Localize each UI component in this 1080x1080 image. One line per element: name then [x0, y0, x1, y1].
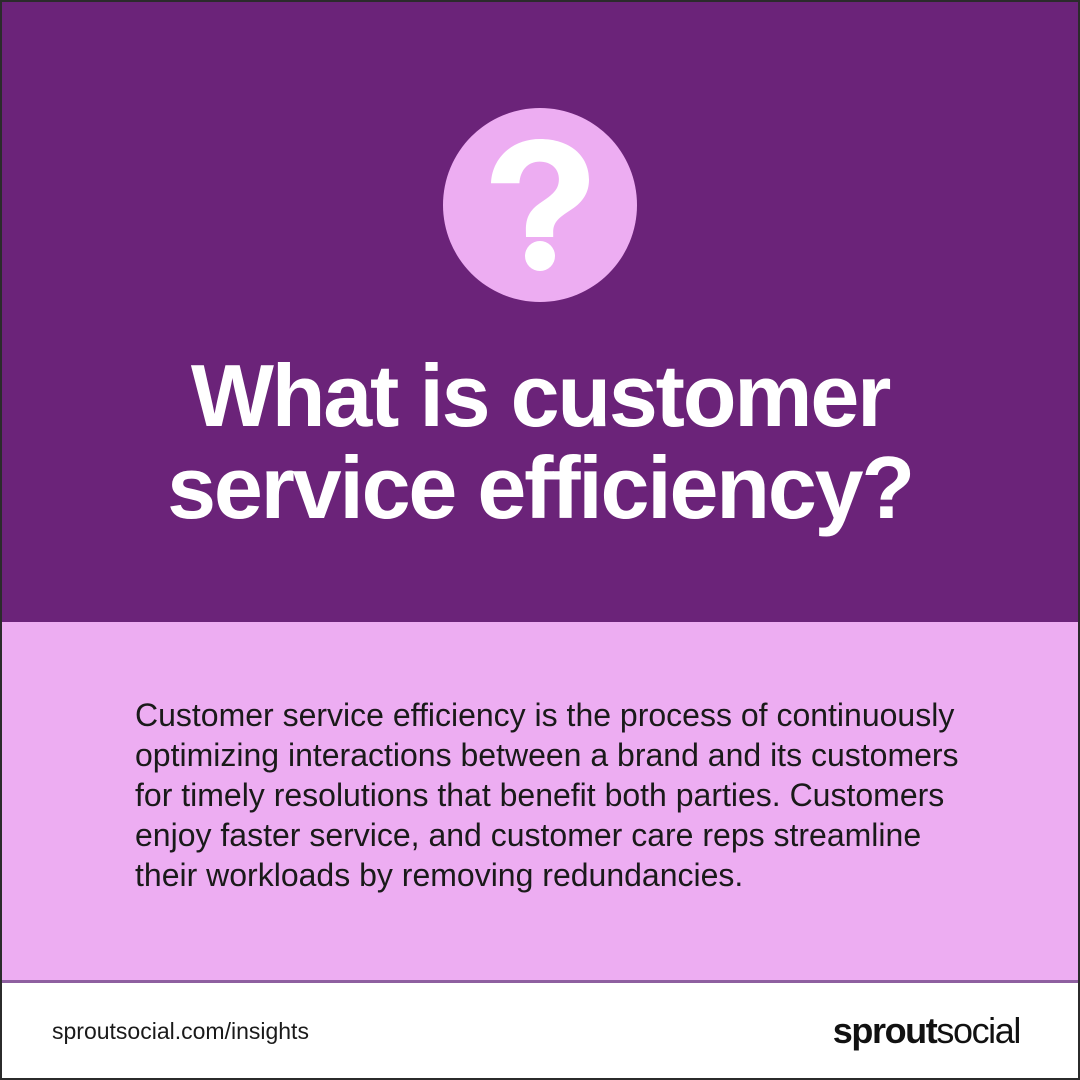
question-mark-icon [488, 139, 592, 271]
hero-section: What is customer service efficiency? [2, 2, 1078, 622]
logo-word-sprout: sprout [833, 1010, 937, 1051]
logo-word-social: social [936, 1010, 1020, 1051]
question-mark-badge [443, 108, 637, 302]
body-section: Customer service efficiency is the proce… [2, 622, 1078, 983]
insight-card: What is customer service efficiency? Cus… [0, 0, 1080, 1080]
footer: sproutsocial.com/insights sproutsocial [2, 983, 1078, 1078]
page-title: What is customer service efficiency? [2, 350, 1078, 534]
body-paragraph: Customer service efficiency is the proce… [135, 695, 965, 895]
footer-url[interactable]: sproutsocial.com/insights [52, 1017, 309, 1045]
sproutsocial-logo: sproutsocial [833, 1011, 1020, 1051]
